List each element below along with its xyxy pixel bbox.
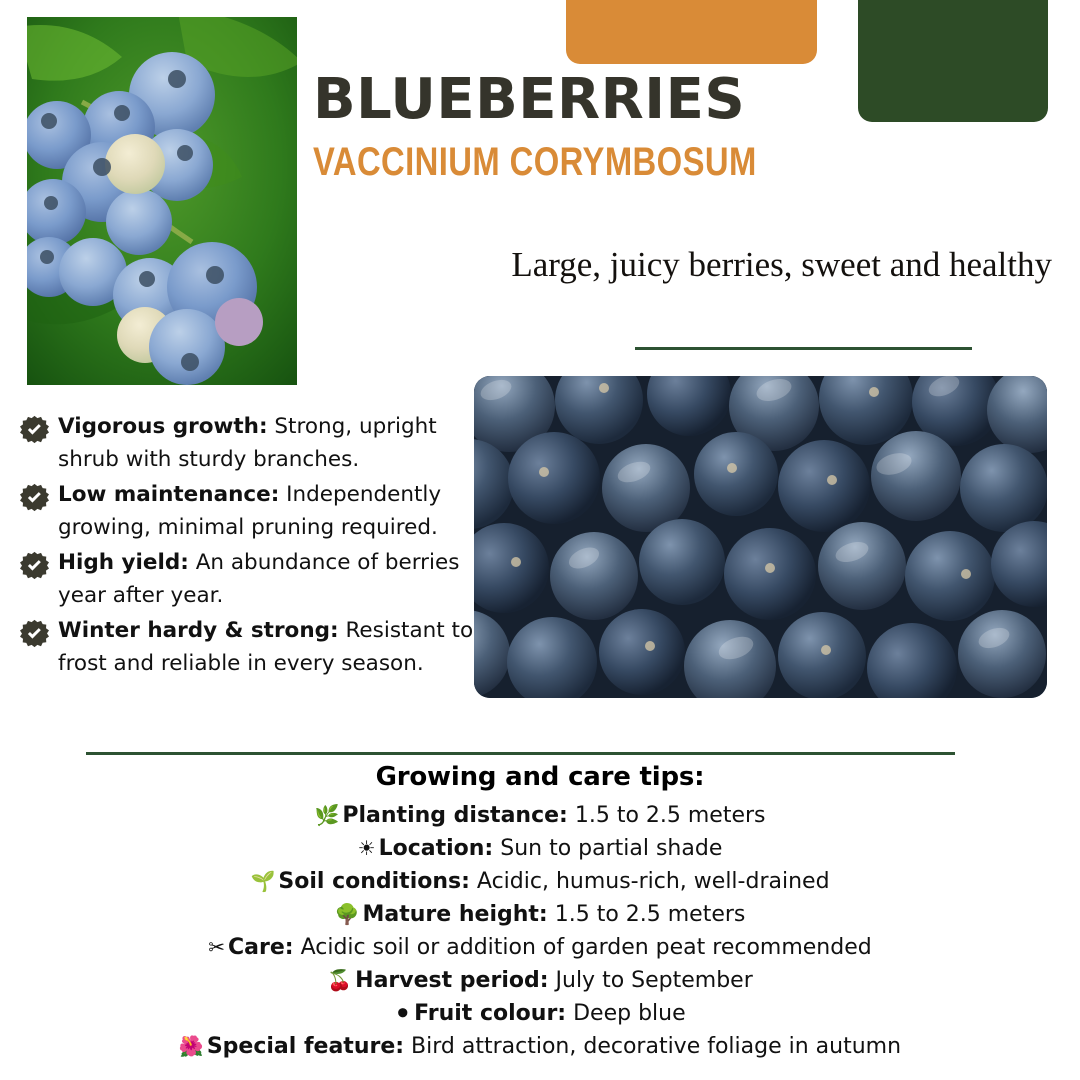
tip-label: Fruit colour:	[414, 1001, 566, 1026]
feature-label: Vigorous growth:	[58, 414, 268, 439]
list-item: ✂Care: Acidic soil or addition of garden…	[0, 931, 1080, 964]
sun-icon: ☀	[358, 836, 376, 860]
harvested-blueberries-photo	[474, 376, 1047, 698]
tip-label: Harvest period:	[355, 968, 548, 993]
tip-label: Mature height:	[363, 902, 548, 927]
herb-icon: 🌿	[314, 803, 339, 827]
tip-value: Bird attraction, decorative foliage in a…	[404, 1034, 901, 1059]
feature-text: High yield: An abundance of berries year…	[58, 547, 480, 612]
tip-value: Deep blue	[566, 1001, 686, 1026]
list-item: 🍒Harvest period: July to September	[0, 964, 1080, 997]
tagline-divider	[635, 347, 972, 350]
list-item: High yield: An abundance of berries year…	[20, 547, 480, 612]
tip-label: Special feature:	[207, 1034, 404, 1059]
tip-label: Location:	[379, 836, 494, 861]
feature-text: Winter hardy & strong: Resistant to fros…	[58, 615, 480, 680]
tips-heading: Growing and care tips:	[0, 762, 1080, 792]
tip-label: Care:	[228, 935, 294, 960]
check-badge-icon	[20, 415, 49, 444]
list-item: Winter hardy & strong: Resistant to fros…	[20, 615, 480, 680]
list-item: 🌳Mature height: 1.5 to 2.5 meters	[0, 898, 1080, 931]
tip-value: Acidic soil or addition of garden peat r…	[294, 935, 872, 960]
list-item: ⚫Fruit colour: Deep blue	[0, 997, 1080, 1030]
check-badge-icon	[20, 483, 49, 512]
tip-value: Acidic, humus-rich, well-drained	[470, 869, 830, 894]
title-block: BLUEBERRIES VACCINIUM CORYMBOSUM	[313, 72, 1053, 182]
tip-label: Soil conditions:	[278, 869, 470, 894]
feature-text: Low maintenance: Independently growing, …	[58, 479, 480, 544]
tip-value: July to September	[549, 968, 753, 993]
check-badge-icon	[20, 619, 49, 648]
list-item: 🌿Planting distance: 1.5 to 2.5 meters	[0, 799, 1080, 832]
cherries-icon: 🍒	[327, 968, 352, 992]
dark-circle-icon: ⚫	[394, 1001, 411, 1025]
list-item: Low maintenance: Independently growing, …	[20, 479, 480, 544]
tip-label: Planting distance:	[342, 803, 567, 828]
page-title: BLUEBERRIES	[313, 72, 1053, 128]
feature-label: High yield:	[58, 550, 189, 575]
list-item: 🌺Special feature: Bird attraction, decor…	[0, 1030, 1080, 1063]
decorative-orange-block	[566, 0, 817, 64]
list-item: 🌱Soil conditions: Acidic, humus-rich, we…	[0, 865, 1080, 898]
list-item: Vigorous growth: Strong, upright shrub w…	[20, 411, 480, 476]
scissors-icon: ✂	[208, 935, 225, 959]
tips-divider	[86, 752, 955, 755]
page-subtitle: VACCINIUM CORYMBOSUM	[313, 142, 920, 182]
feature-label: Winter hardy & strong:	[58, 618, 339, 643]
tips-list: 🌿Planting distance: 1.5 to 2.5 meters ☀L…	[0, 799, 1080, 1063]
tree-icon: 🌳	[335, 902, 360, 926]
feature-label: Low maintenance:	[58, 482, 279, 507]
tip-value: 1.5 to 2.5 meters	[568, 803, 766, 828]
feature-text: Vigorous growth: Strong, upright shrub w…	[58, 411, 480, 476]
tagline: Large, juicy berries, sweet and healthy	[511, 245, 1052, 285]
list-item: ☀Location: Sun to partial shade	[0, 832, 1080, 865]
tip-value: Sun to partial shade	[493, 836, 722, 861]
hero-blueberry-bush-photo	[27, 17, 297, 385]
seedling-icon: 🌱	[250, 869, 275, 893]
tip-value: 1.5 to 2.5 meters	[548, 902, 746, 927]
hibiscus-icon: 🌺	[179, 1034, 204, 1058]
check-badge-icon	[20, 551, 49, 580]
feature-list: Vigorous growth: Strong, upright shrub w…	[20, 411, 480, 683]
